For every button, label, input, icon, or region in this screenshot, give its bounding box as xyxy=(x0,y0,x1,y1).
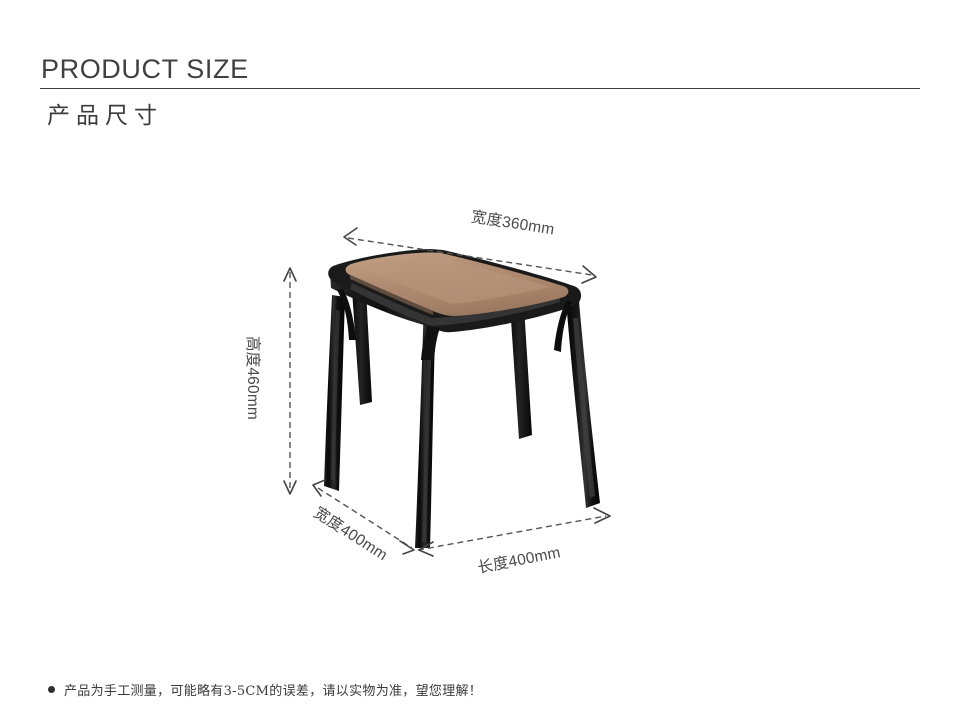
dimension-label-base-length: 长度400mm xyxy=(476,543,562,577)
product-size-diagram: 宽度360mm 高度460mm 宽度400mm 长度400mm xyxy=(0,150,960,620)
arrowhead-seat-width-left xyxy=(344,228,357,245)
footnote: 产品为手工测量，可能略有3-5CM的误差，请以实物为准，望您理解！ xyxy=(48,680,482,699)
footnote-text: 产品为手工测量，可能略有3-5CM的误差，请以实物为准，望您理解！ xyxy=(64,680,482,699)
arrowhead-base-length-right xyxy=(594,508,610,523)
title-divider xyxy=(40,88,920,89)
page-title-chinese: 产品尺寸 xyxy=(47,96,163,130)
page-title-english: PRODUCT SIZE xyxy=(41,54,249,85)
dimension-label-base-width: 宽度400mm xyxy=(311,503,391,564)
dimension-line-base-length xyxy=(418,516,606,550)
dimension-label-height: 高度460mm xyxy=(244,336,262,420)
bullet-dot-icon xyxy=(48,686,55,693)
dimension-label-seat-width: 宽度360mm xyxy=(470,208,556,239)
stool-leg-back-left xyxy=(352,290,372,405)
